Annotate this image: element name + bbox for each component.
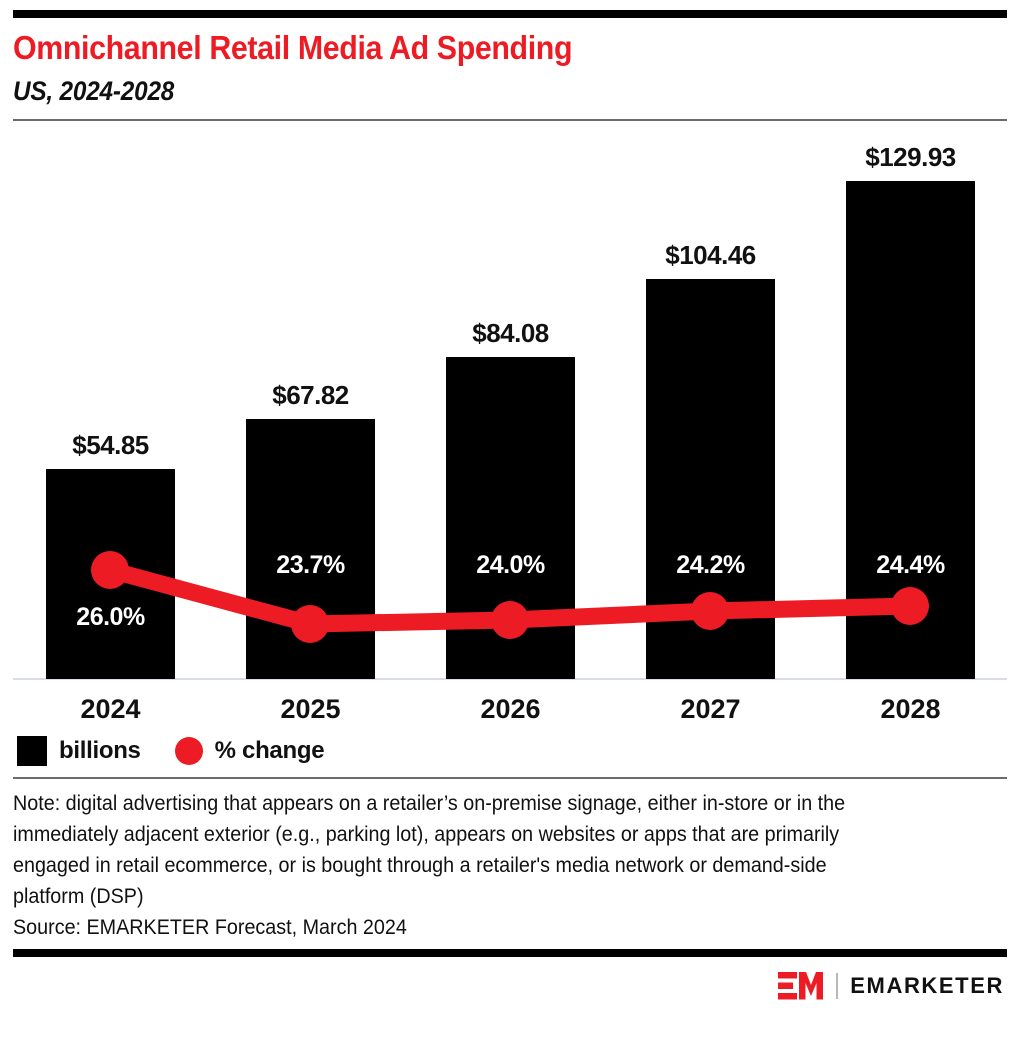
bar-2026: [446, 357, 575, 679]
pct-label-2026: 24.0%: [446, 551, 575, 580]
bar-value-2025: $67.82: [246, 380, 375, 411]
bar-value-2026: $84.08: [446, 318, 575, 349]
x-axis-label-2028: 2028: [846, 694, 975, 725]
legend-item-billions: billions: [17, 736, 141, 766]
chart-legend: billions % change: [13, 731, 1007, 771]
chart-plot-area: $54.85 $67.82 $84.08 $104.46 $129.93 26.…: [13, 127, 1007, 727]
page-subtitle: US, 2024-2028: [13, 76, 908, 107]
x-axis-label-2027: 2027: [646, 694, 775, 725]
chart-source: Source: EMARKETER Forecast, March 2024: [13, 912, 947, 943]
pct-label-2025: 23.7%: [246, 551, 375, 580]
bar-value-2027: $104.46: [646, 240, 775, 271]
legend-label-billions: billions: [59, 737, 141, 765]
bar-2024: [46, 469, 175, 679]
pct-label-2028: 24.4%: [846, 551, 975, 580]
brand-footer: EMARKETER: [13, 971, 1007, 1001]
red-circle-icon: [175, 737, 203, 765]
bar-value-2028: $129.93: [846, 142, 975, 173]
header-divider: [13, 119, 1007, 121]
x-axis-label-2024: 2024: [46, 694, 175, 725]
page-title: Omnichannel Retail Media Ad Spending: [13, 30, 927, 66]
footnote-divider: [13, 777, 1007, 779]
bar-2028: [846, 181, 975, 679]
bar-2025: [246, 419, 375, 679]
x-axis-label-2025: 2025: [246, 694, 375, 725]
legend-item-percent-change: % change: [175, 737, 325, 765]
em-logo-icon: [778, 971, 824, 1001]
x-axis-label-2026: 2026: [446, 694, 575, 725]
pct-label-2024: 26.0%: [46, 603, 175, 632]
top-rule: [13, 10, 1007, 18]
bottom-rule: [13, 949, 1007, 957]
chart-note: Note: digital advertising that appears o…: [13, 788, 887, 912]
brand-divider: [836, 973, 838, 999]
bar-value-2024: $54.85: [46, 430, 175, 461]
brand-name: EMARKETER: [850, 973, 1004, 999]
chart-page: Omnichannel Retail Media Ad Spending US,…: [0, 10, 1020, 1058]
black-square-icon: [17, 736, 47, 766]
pct-label-2027: 24.2%: [646, 551, 775, 580]
legend-label-percent-change: % change: [215, 737, 325, 765]
bar-2027: [646, 279, 775, 679]
